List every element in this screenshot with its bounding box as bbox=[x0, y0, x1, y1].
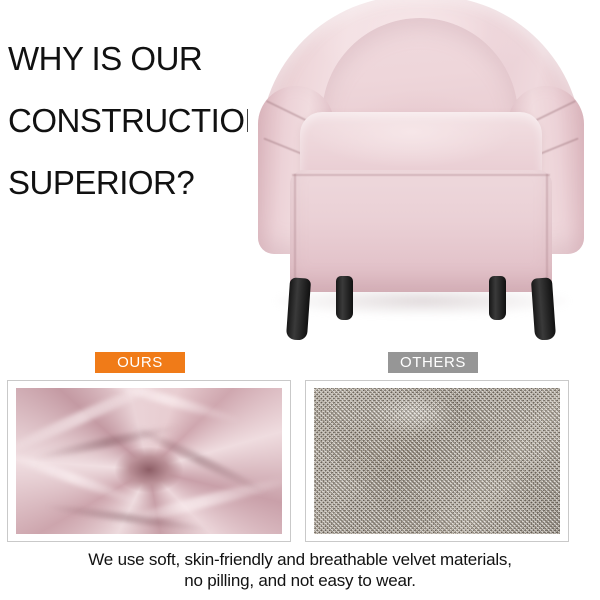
comparison-panel-others bbox=[305, 380, 569, 542]
page-title: WHY IS OUR CONSTRUCTION SUPERIOR? bbox=[8, 42, 258, 199]
velvet-crease-2 bbox=[128, 422, 271, 498]
badge-ours: OURS bbox=[95, 352, 185, 373]
chair-leg-rear-left bbox=[336, 276, 353, 320]
chair-leg-front-right bbox=[531, 277, 556, 340]
headline-line-2: CONSTRUCTION bbox=[8, 104, 258, 137]
chair-leg-rear-right bbox=[489, 276, 506, 320]
product-photo-armchair bbox=[248, 0, 594, 342]
caption-line-2: no pilling, and not easy to wear. bbox=[0, 570, 600, 591]
chair-seam-right bbox=[546, 174, 548, 286]
badge-others: OTHERS bbox=[388, 352, 478, 373]
comparison-panel-ours bbox=[7, 380, 291, 542]
caption-line-1: We use soft, skin-friendly and breathabl… bbox=[0, 549, 600, 570]
headline-line-1: WHY IS OUR bbox=[8, 42, 258, 75]
chair-seam-left bbox=[294, 174, 296, 286]
product-feature-graphic: WHY IS OUR CONSTRUCTION SUPERIOR? OURS O… bbox=[0, 0, 600, 600]
fabric-swatch-ours-velvet bbox=[16, 388, 282, 534]
caption: We use soft, skin-friendly and breathabl… bbox=[0, 549, 600, 591]
chair-front-apron bbox=[290, 170, 552, 292]
chair-seam-horizontal bbox=[292, 174, 550, 176]
chair-leg-front-left bbox=[286, 277, 311, 340]
fabric-swatch-others-burlap bbox=[314, 388, 560, 534]
headline-line-3: SUPERIOR? bbox=[8, 166, 258, 199]
